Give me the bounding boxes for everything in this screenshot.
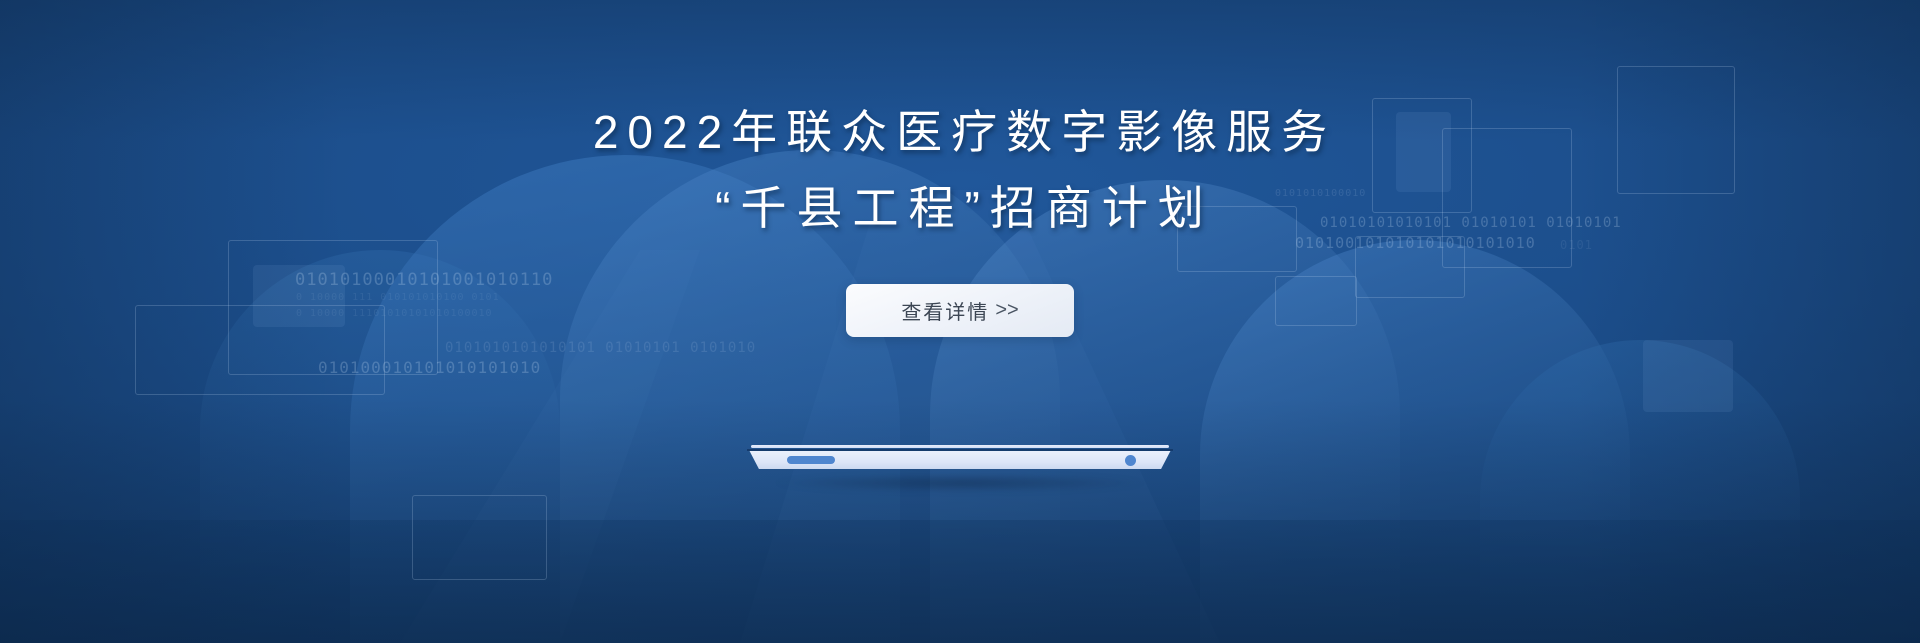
- promo-banner: 01010100010101001010110 0 10000 111 0101…: [0, 0, 1920, 643]
- device-speaker-icon: [787, 456, 835, 464]
- chevron-right-icon: >>: [995, 299, 1018, 322]
- title-line-1: 2022年联众医疗数字影像服务: [584, 94, 1336, 170]
- banner-content: 2022年联众医疗数字影像服务 “千县工程”招商计划 查看详情 >>: [0, 0, 1920, 643]
- banner-title: 2022年联众医疗数字影像服务 “千县工程”招商计划: [584, 94, 1336, 246]
- device-lip: [751, 445, 1169, 448]
- device-camera-dot-icon: [1125, 455, 1136, 466]
- view-details-label: 查看详情: [901, 296, 989, 325]
- title-line-2: “千县工程”招商计划: [584, 170, 1336, 246]
- device-seam-line: [747, 449, 1173, 451]
- tablet-device-base: [747, 440, 1173, 474]
- view-details-button[interactable]: 查看详情 >>: [846, 284, 1074, 337]
